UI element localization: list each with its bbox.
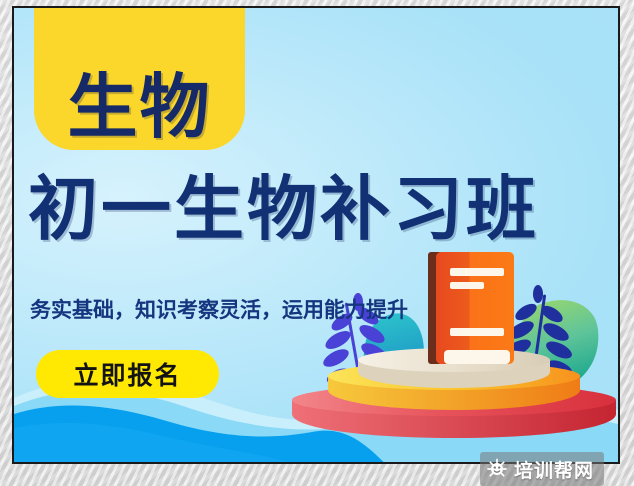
book-podium-illustration bbox=[284, 248, 620, 438]
site-watermark: 培训帮网 bbox=[480, 452, 604, 486]
page-title: 初一生物补习班 bbox=[28, 174, 608, 244]
course-promo-banner: 生物 初一生物补习班 务实基础，知识考察灵活，运用能力提升 立即报名 bbox=[12, 6, 620, 464]
book-graphic bbox=[428, 252, 514, 364]
watermark-text: 培训帮网 bbox=[514, 456, 594, 483]
subject-badge-label: 生物 bbox=[68, 72, 212, 142]
subject-badge: 生物 bbox=[34, 6, 245, 150]
enroll-now-button[interactable]: 立即报名 bbox=[36, 350, 219, 398]
subtitle-text: 务实基础，知识考察灵活，运用能力提升 bbox=[30, 294, 408, 324]
enroll-now-label: 立即报名 bbox=[73, 356, 181, 392]
sun-face-icon bbox=[486, 458, 508, 480]
